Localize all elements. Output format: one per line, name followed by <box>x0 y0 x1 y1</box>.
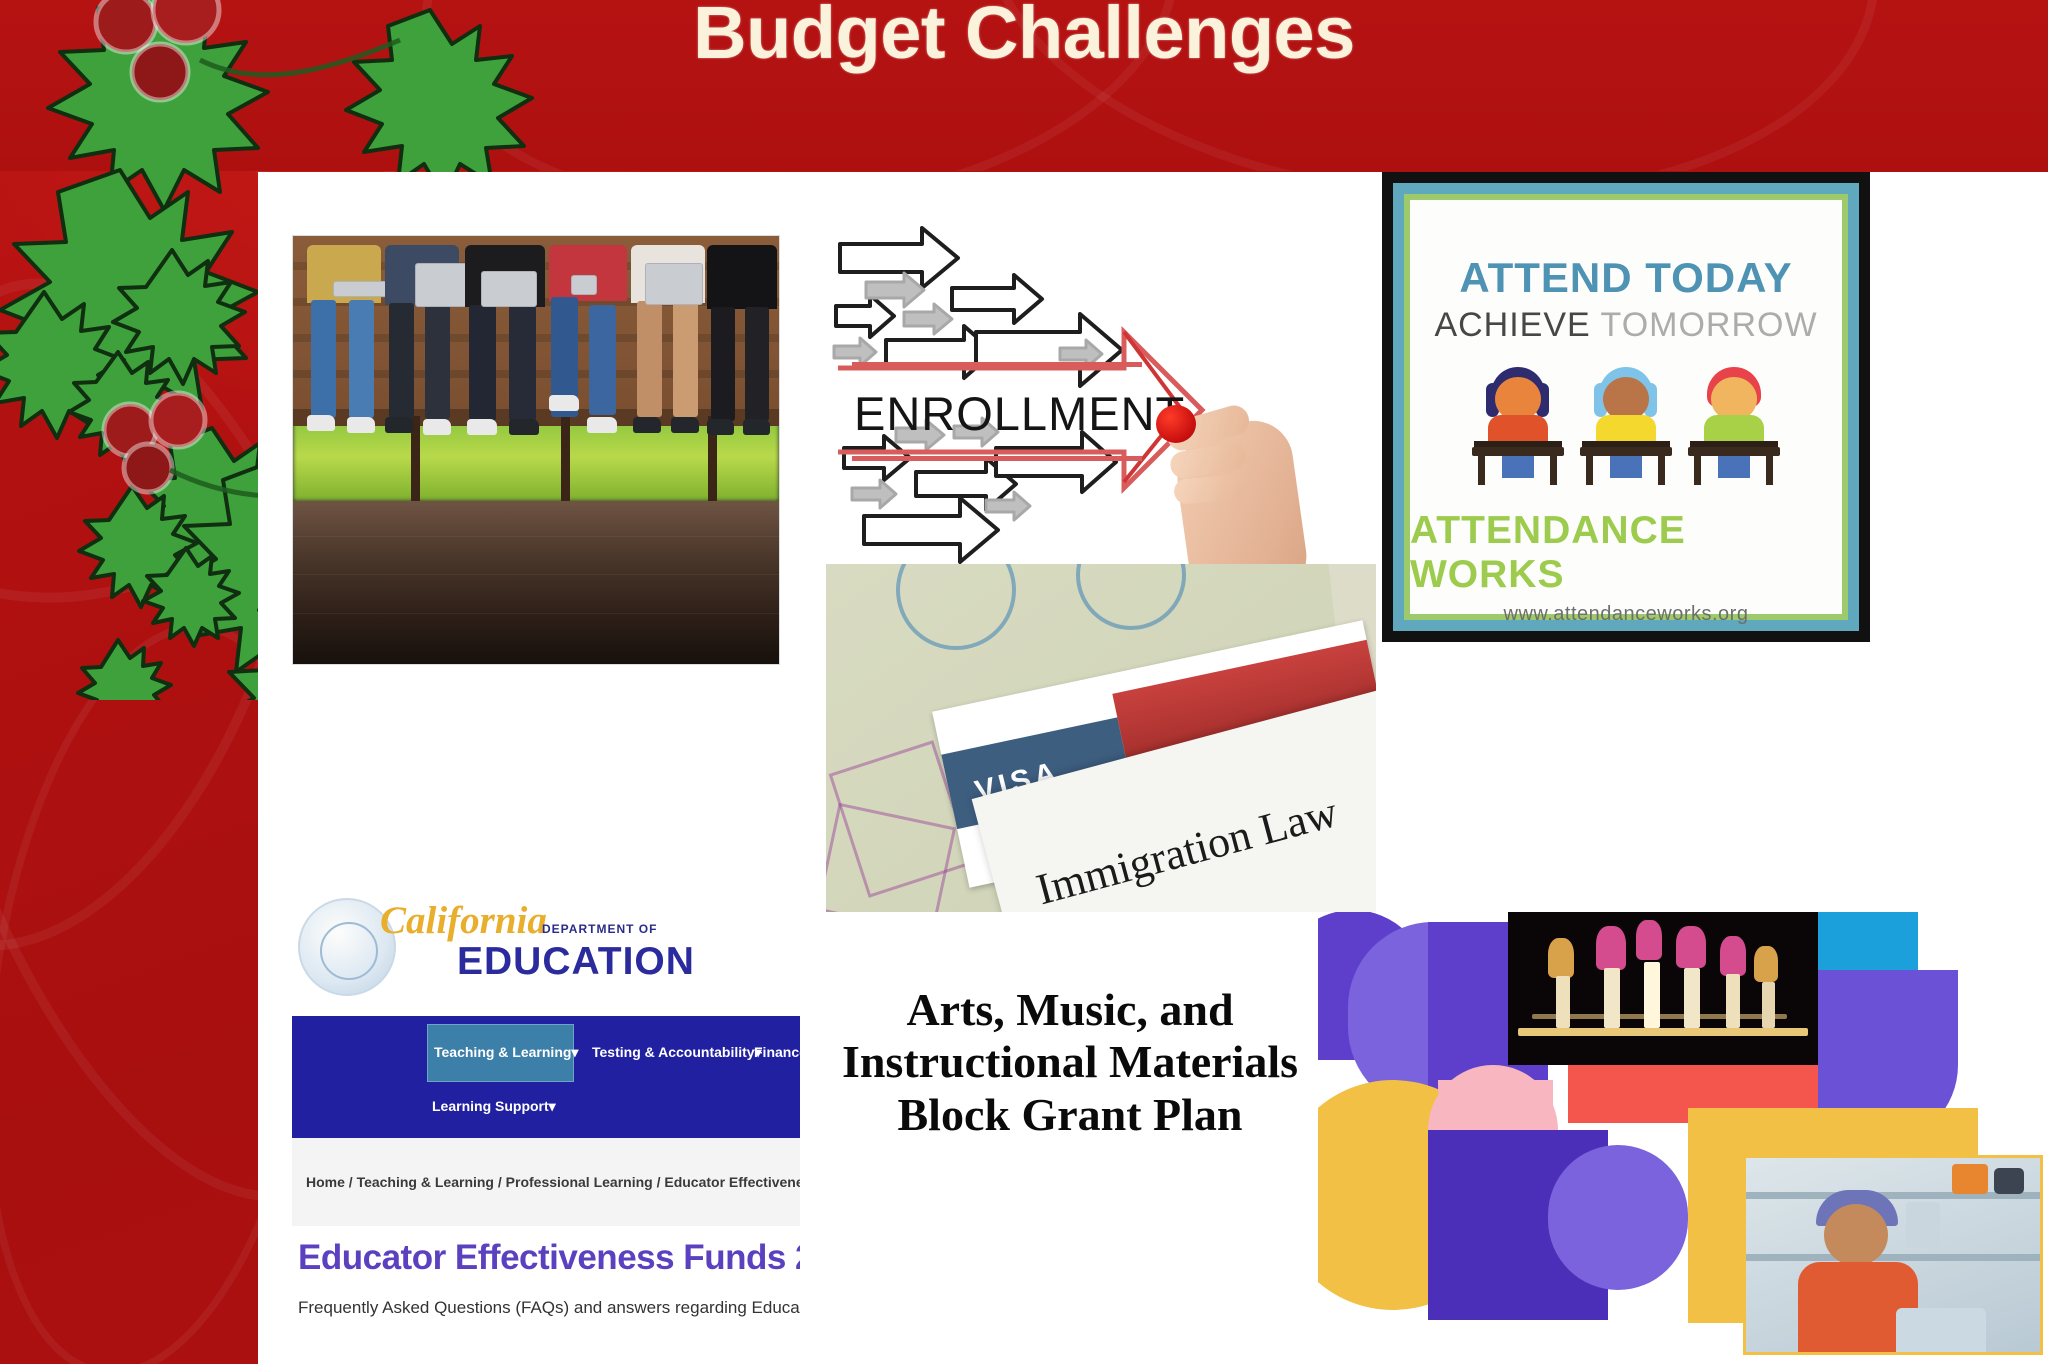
block-grant-title: Arts, Music, and Instructional Materials… <box>840 984 1300 1141</box>
aw-url: www.attendanceworks.org <box>1504 603 1749 626</box>
cde-webpage-screenshot: California DEPARTMENT OF EDUCATION Teach… <box>292 892 800 1364</box>
page-title: Educator Effectiveness Funds 2021–26 FAQ… <box>298 1238 800 1278</box>
immigration-law-label: Immigration Law <box>1031 786 1343 915</box>
student-icon <box>1472 367 1564 485</box>
cde-nav-item-testing-accountability[interactable]: Testing & Accountability▾ <box>592 1044 762 1061</box>
aw-line-2: ACHIEVE TOMORROW <box>1434 306 1817 345</box>
breadcrumb[interactable]: Home / Teaching & Learning / Professiona… <box>306 1174 800 1190</box>
aw-line-1: ATTEND TODAY <box>1459 254 1792 302</box>
attendance-works-logo: ATTEND TODAY ACHIEVE TOMORROW <box>1382 172 1870 642</box>
stage-performance-photo <box>1508 912 1818 1065</box>
cde-nav-item-learning-support[interactable]: Learning Support▾ <box>432 1098 556 1115</box>
cde-breadcrumb-bar: Home / Teaching & Learning / Professiona… <box>292 1138 800 1226</box>
cde-logo-dept-of: DEPARTMENT OF <box>542 922 657 936</box>
slide-canvas: Budget Challenges <box>0 0 2048 1364</box>
immigration-visa-photo: VISA Immigration Law <box>826 564 1376 934</box>
cde-nav-item-finance[interactable]: Finance <box>754 1044 800 1060</box>
students-at-desks-icon <box>1472 367 1780 485</box>
students-photo <box>292 235 780 665</box>
block-grant-graphic: Arts, Music, and Instructional Materials… <box>818 912 2048 1364</box>
cde-page-body: Educator Effectiveness Funds 2021–26 FAQ… <box>292 1226 800 1364</box>
cde-logo-education: EDUCATION <box>457 940 695 984</box>
cde-nav-item-teaching-learning[interactable]: Teaching & Learning▾ <box>434 1044 578 1061</box>
student-icon <box>1580 367 1672 485</box>
student-working-photo <box>1743 1155 2043 1355</box>
slide-content-panel: ENROLLMENT ATTEND TODAY ACHIEVE TOMORROW <box>258 172 2048 1364</box>
block-grant-artwork <box>1318 912 2048 1364</box>
page-subtitle: Frequently Asked Questions (FAQs) and an… <box>298 1298 800 1318</box>
student-icon <box>1688 367 1780 485</box>
cde-header: California DEPARTMENT OF EDUCATION <box>292 892 800 1016</box>
enrollment-label: ENROLLMENT <box>854 386 1154 441</box>
aw-org-name: ATTENDANCE WORKS <box>1410 509 1842 597</box>
aw-tomorrow-text: TOMORROW <box>1601 306 1818 344</box>
aw-achieve-text: ACHIEVE <box>1434 306 1600 344</box>
cde-nav-bar[interactable]: Teaching & Learning▾ Testing & Accountab… <box>292 1016 800 1138</box>
cde-logo-california: California <box>380 898 547 943</box>
enrollment-graphic: ENROLLMENT <box>830 220 1330 620</box>
